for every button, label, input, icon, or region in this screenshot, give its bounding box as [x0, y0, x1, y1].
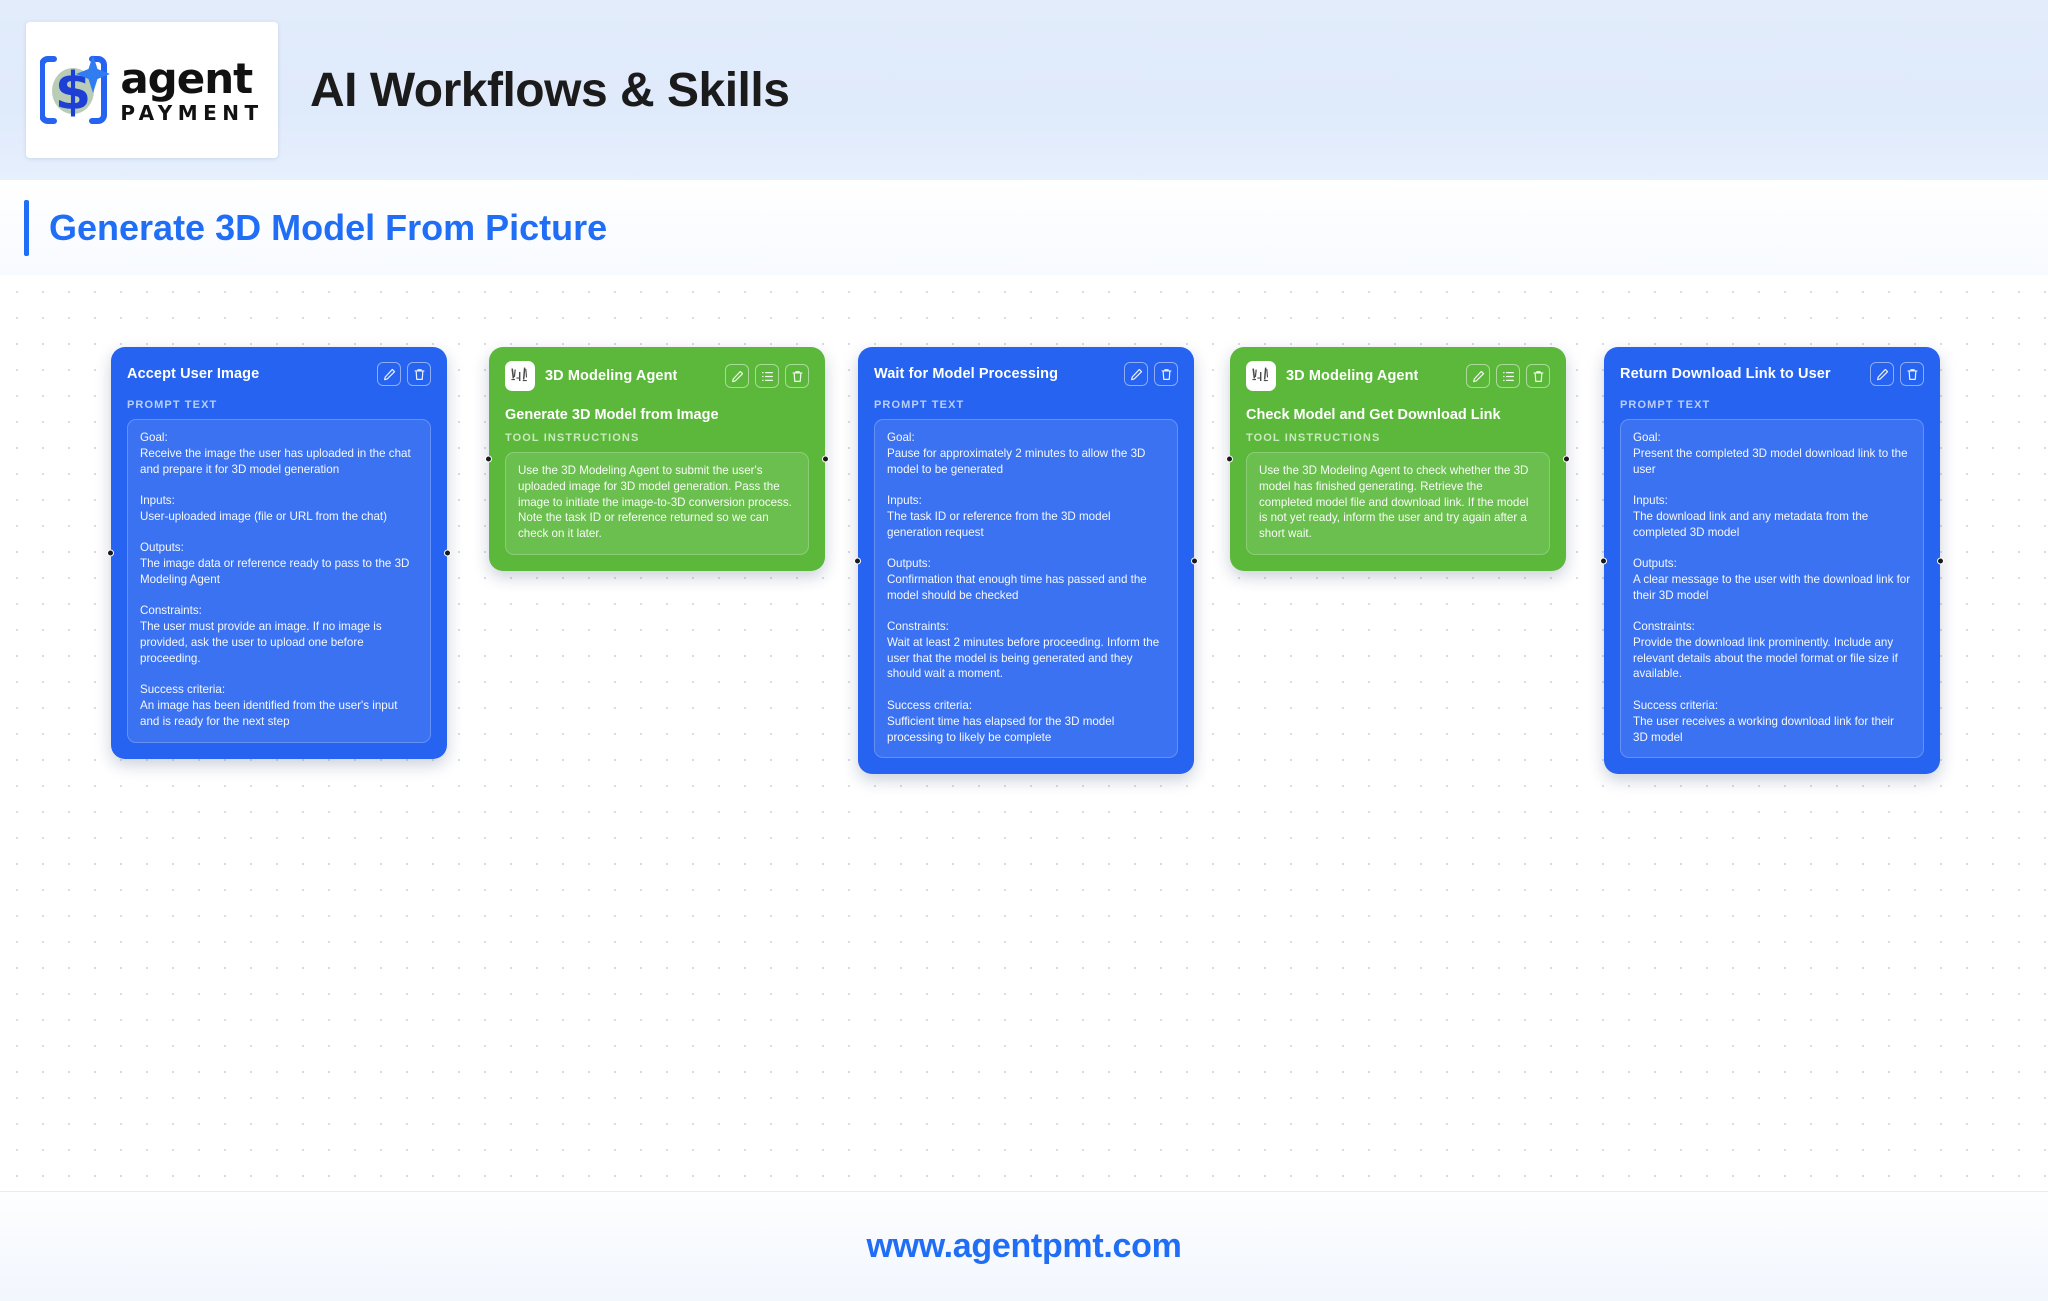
title-accent-bar — [24, 200, 29, 256]
page-title-bar: Generate 3D Model From Picture — [0, 180, 2048, 275]
node-actions — [1466, 364, 1550, 388]
logo-word-agent: agent — [120, 58, 263, 100]
edit-icon[interactable] — [377, 362, 401, 386]
page-header: $ agent PAYMENT AI Workflows & Skills — [0, 0, 2048, 180]
node-title: 3D Modeling Agent — [545, 368, 677, 384]
header-title: AI Workflows & Skills — [310, 63, 789, 118]
edit-icon[interactable] — [1466, 364, 1490, 388]
dollar-sparkle-logo-icon: $ — [40, 49, 114, 131]
list-icon[interactable] — [755, 364, 779, 388]
node-title: Return Download Link to User — [1620, 366, 1831, 382]
workflow-node-accept-user-image[interactable]: Accept User ImagePROMPT TEXTGoal: Receiv… — [111, 347, 447, 759]
trash-icon[interactable] — [1526, 364, 1550, 388]
page-title: Generate 3D Model From Picture — [49, 207, 607, 249]
node-subtitle: Generate 3D Model from Image — [505, 407, 809, 423]
node-title: 3D Modeling Agent — [1286, 368, 1418, 384]
node-section-label: PROMPT TEXT — [127, 399, 431, 411]
node-section-label: TOOL INSTRUCTIONS — [1246, 432, 1550, 444]
list-icon[interactable] — [1496, 364, 1520, 388]
node-title: Wait for Model Processing — [874, 366, 1058, 382]
workflow-canvas[interactable]: Accept User ImagePROMPT TEXTGoal: Receiv… — [0, 275, 2048, 1191]
connector-handle-left[interactable] — [107, 549, 114, 556]
agent-avatar-icon — [505, 361, 535, 391]
workflow-node-generate-3d-model-from-image[interactable]: 3D Modeling AgentGenerate 3D Model from … — [489, 347, 825, 571]
workflow-page: $ agent PAYMENT AI Workflows & Skills Ge… — [0, 0, 2048, 1301]
node-header: Wait for Model Processing — [874, 361, 1178, 387]
node-actions — [1124, 362, 1178, 386]
node-section-label: PROMPT TEXT — [1620, 399, 1924, 411]
node-header: Return Download Link to User — [1620, 361, 1924, 387]
workflow-node-return-download-link-to-user[interactable]: Return Download Link to UserPROMPT TEXTG… — [1604, 347, 1940, 774]
node-header: 3D Modeling Agent — [505, 361, 809, 391]
connector-handle-left[interactable] — [1600, 557, 1607, 564]
page-footer: www.agentpmt.com — [0, 1191, 2048, 1301]
node-header: Accept User Image — [127, 361, 431, 387]
edit-icon[interactable] — [1124, 362, 1148, 386]
node-body-text: Goal: Receive the image the user has upl… — [127, 419, 431, 743]
edit-icon[interactable] — [1870, 362, 1894, 386]
trash-icon[interactable] — [1154, 362, 1178, 386]
logo-word-payment: PAYMENT — [120, 103, 263, 123]
connector-handle-right[interactable] — [1937, 557, 1944, 564]
node-actions — [1870, 362, 1924, 386]
node-body-text: Use the 3D Modeling Agent to check wheth… — [1246, 452, 1550, 555]
footer-url[interactable]: www.agentpmt.com — [866, 1227, 1181, 1266]
connector-handle-left[interactable] — [854, 557, 861, 564]
workflow-node-wait-for-model-processing[interactable]: Wait for Model ProcessingPROMPT TEXTGoal… — [858, 347, 1194, 774]
edit-icon[interactable] — [725, 364, 749, 388]
connector-handle-left[interactable] — [485, 455, 492, 462]
connector-handle-right[interactable] — [444, 549, 451, 556]
agent-avatar-icon — [1246, 361, 1276, 391]
brand-logo: $ agent PAYMENT — [26, 22, 278, 158]
connector-handle-right[interactable] — [1191, 557, 1198, 564]
trash-icon[interactable] — [1900, 362, 1924, 386]
workflow-node-check-model-and-get-download-link[interactable]: 3D Modeling AgentCheck Model and Get Dow… — [1230, 347, 1566, 571]
node-actions — [725, 364, 809, 388]
node-title: Accept User Image — [127, 366, 259, 382]
node-header: 3D Modeling Agent — [1246, 361, 1550, 391]
node-body-text: Use the 3D Modeling Agent to submit the … — [505, 452, 809, 555]
node-actions — [377, 362, 431, 386]
node-section-label: TOOL INSTRUCTIONS — [505, 432, 809, 444]
connector-handle-left[interactable] — [1226, 455, 1233, 462]
trash-icon[interactable] — [785, 364, 809, 388]
node-section-label: PROMPT TEXT — [874, 399, 1178, 411]
connector-handle-right[interactable] — [822, 455, 829, 462]
node-body-text: Goal: Pause for approximately 2 minutes … — [874, 419, 1178, 758]
trash-icon[interactable] — [407, 362, 431, 386]
connector-handle-right[interactable] — [1563, 455, 1570, 462]
node-body-text: Goal: Present the completed 3D model dow… — [1620, 419, 1924, 758]
node-subtitle: Check Model and Get Download Link — [1246, 407, 1550, 423]
